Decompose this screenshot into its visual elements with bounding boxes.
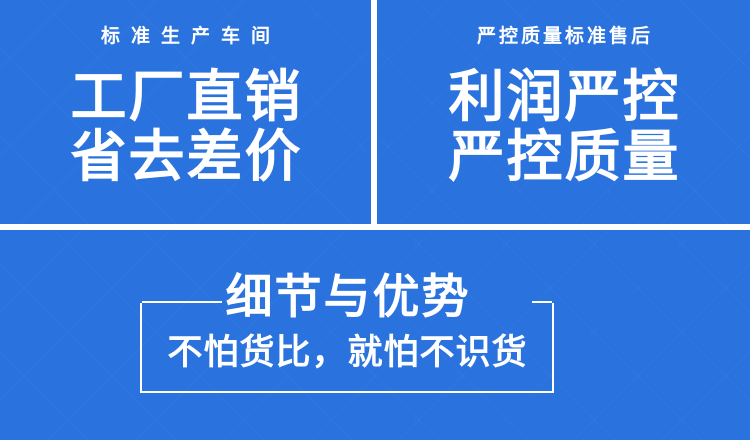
panel-quality-control: 严控质量标准售后 利润严控 严控质量 — [377, 0, 750, 224]
panel-details-advantages-content: 细节与优势 不怕货比，就怕不识货 — [0, 230, 750, 440]
panel-factory-direct-eyebrow: 标准生产车间 — [0, 26, 371, 48]
promo-banner: 标准生产车间 工厂直销 省去差价 严控质量标准售后 利润严控 严控质量 细节与优… — [0, 0, 750, 440]
feature-title: 细节与优势 — [142, 272, 552, 322]
panel-factory-direct-headline-line2: 省去差价 — [0, 128, 371, 186]
panel-quality-control-headline-line1: 利润严控 — [377, 68, 750, 126]
panel-quality-control-headline-line2: 严控质量 — [377, 128, 750, 186]
panel-details-advantages: 细节与优势 不怕货比，就怕不识货 — [0, 230, 750, 440]
panel-factory-direct-headline-line1: 工厂直销 — [0, 68, 371, 126]
panel-quality-control-eyebrow: 严控质量标准售后 — [377, 26, 750, 48]
feature-subtitle: 不怕货比，就怕不识货 — [122, 334, 572, 372]
panel-quality-control-content: 严控质量标准售后 利润严控 严控质量 — [377, 0, 750, 224]
feature-frame: 细节与优势 不怕货比，就怕不识货 — [140, 303, 554, 393]
panel-factory-direct: 标准生产车间 工厂直销 省去差价 — [0, 0, 371, 224]
panel-factory-direct-content: 标准生产车间 工厂直销 省去差价 — [0, 0, 371, 224]
